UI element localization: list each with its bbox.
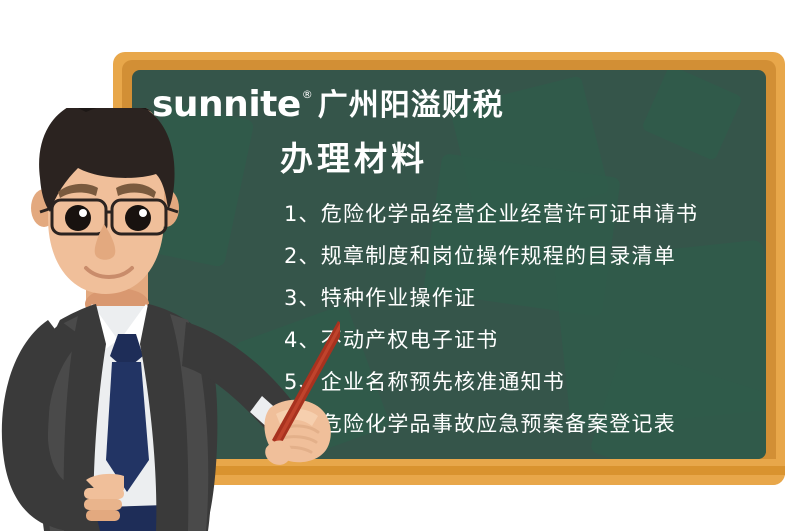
chalk-smudge [135,102,254,267]
eyebrow-left [58,184,98,198]
left-finger [86,510,120,521]
suit-lapel-left [40,304,106,531]
list-item: 2、规章制度和岗位操作规程的目录清单 [284,246,754,267]
ear-left [31,189,57,227]
list-item: 1、危险化学品经营企业经营许可证申请书 [284,204,754,225]
registered-trademark-icon: ® [302,89,313,100]
trousers [74,504,200,531]
eye-highlight-left [79,209,87,217]
brand-logo: sunnite ® 广州阳溢财税 [152,87,504,123]
left-finger [84,488,124,499]
materials-list: 1、危险化学品经营企业经营许可证申请书 2、规章制度和岗位操作规程的目录清单 3… [284,204,754,456]
blackboard-ledge [113,459,785,485]
suit-left-sleeve [14,322,100,531]
board-title: 办理材料 [280,142,428,175]
list-item: 6、危险化学品事故应急预案备案登记表 [284,414,754,435]
glasses-lens-left [52,200,106,234]
list-item: 3、特种作业操作证 [284,288,754,309]
brand-wordmark: sunnite [152,87,301,123]
company-name-cn: 广州阳溢财税 [318,91,504,121]
suit-lapel-left-highlight [47,316,78,531]
list-item: 4、不动产权电子证书 [284,330,754,351]
eye-left [65,205,91,231]
list-item: 5、企业名称预先核准通知书 [284,372,754,393]
blackboard-surface: sunnite ® 广州阳溢财税 办理材料 1、危险化学品经营企业经营许可证申请… [132,70,766,459]
suit-left-arm [2,320,96,530]
chalk-smudge [641,70,743,161]
glasses-temple-left [40,208,52,212]
left-finger [84,499,122,510]
illustration-canvas: sunnite ® 广州阳溢财税 办理材料 1、危险化学品经营企业经营许可证申请… [0,0,800,531]
